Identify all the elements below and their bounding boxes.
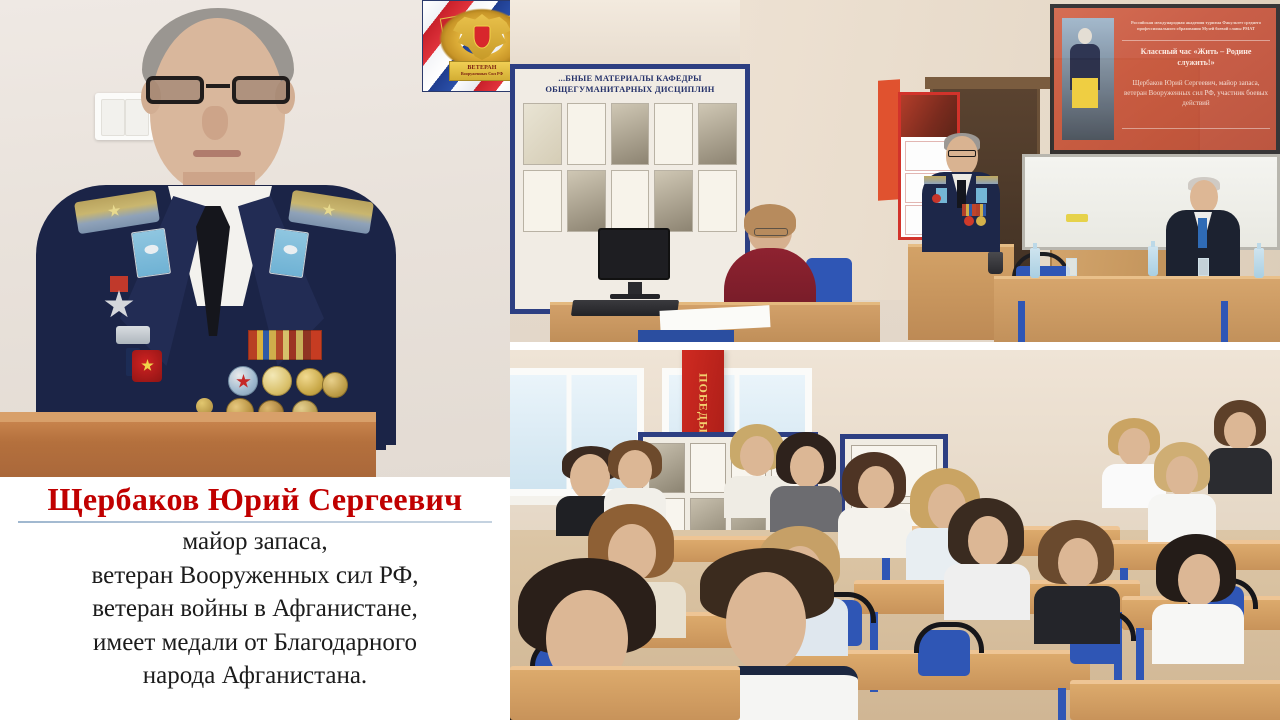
medal-ribbon-bar [248,330,322,360]
description-line: ветеран войны в Афганистане, [0,592,510,626]
student-head [1166,456,1198,496]
coffee-cup [988,252,1003,274]
board-item [523,170,562,232]
student-body [1034,586,1120,644]
student-body [770,486,842,532]
speaker-epaulet-left [924,176,946,184]
board-item [567,170,606,232]
eyeglasses-bridge [206,84,230,88]
board-item [567,103,606,165]
blue-folder [638,330,734,342]
student-body [1152,604,1244,664]
medal-3 [296,368,324,396]
epaulet-star-left [107,203,122,218]
student-head [726,572,806,672]
board-item [611,170,650,232]
slide-header-text: Российская международная академия туризм… [1122,20,1270,32]
medal-4 [322,372,348,398]
slide-divider-bottom [1122,128,1270,129]
slide-divider-top [1122,40,1270,41]
student [1044,526,1110,638]
board-item [654,103,693,165]
student-body [838,508,912,558]
speaker-ribbon-bar [962,204,986,216]
student [780,436,834,528]
order-ribbon [110,276,128,292]
emblem-banner: ВЕТЕРАН Вооруженных Сил РФ [449,61,515,81]
classroom-chair [918,630,970,676]
board-item [611,103,650,165]
water-bottle [1254,248,1264,278]
collar-patch-left [131,228,171,278]
student [1156,446,1206,538]
speaker-medal-2 [976,216,986,226]
aviation-badge [116,326,150,344]
victory-banner-text: ПОБЕДЫ [696,373,711,434]
drinking-glass [1198,258,1209,276]
eyeglasses-lens-right [232,76,290,104]
speaking-veteran [922,136,1000,251]
slide-photo-certificate [1072,78,1098,108]
portrait-nose [202,106,228,140]
guards-badge [132,350,162,382]
speaker-collar-patch-right [976,188,987,203]
description-line: народа Афганистана. [0,659,510,693]
board-item [654,170,693,232]
projection-screen: Российская международная академия туризм… [1050,4,1280,154]
desk-leg [1058,688,1066,720]
guest-tie [1198,218,1207,248]
table-leg [1221,301,1228,342]
presidium-table [994,276,1280,342]
monitor-stand [610,294,660,299]
student [846,456,904,554]
student-head [790,446,824,488]
guest-head [1190,180,1218,214]
wall-poster-strip [878,79,900,201]
description-line: имеет медали от Благодарного [0,626,510,660]
slide-subtitle-text: Щербаков Юрий Сергеевич, майор запаса, в… [1122,78,1270,108]
whiteboard [1022,154,1280,250]
student-head [1224,412,1256,450]
emblem-shield-icon [474,26,491,49]
board-title: ...БНЫЕ МАТЕРИАЛЫ КАФЕДРЫ ОБЩЕГУМАНИТАРН… [515,73,745,95]
epaulet-star-right [321,203,336,218]
eyeglasses-icon [144,76,292,106]
student-head [740,436,774,476]
student-head [618,450,652,490]
eyeglasses-lens-left [146,76,204,104]
student [954,504,1020,614]
student-head [570,454,610,500]
student-head [1178,554,1220,606]
veteran-description: майор запаса, ветеран Вооруженных сил РФ… [0,525,510,693]
description-line: майор запаса, [0,525,510,559]
student-body [944,564,1030,620]
student-head [968,516,1008,566]
student-desk-front [510,666,740,720]
slide-title-text: Классный час «Жить – Родине служить!» [1122,46,1270,68]
medal-2 [262,366,292,396]
collar-patch-right [269,228,309,278]
classroom-audience-photo: ПОБЕДЫ [510,350,1280,720]
stand-item [690,443,726,493]
student-head [1058,538,1098,588]
whiteboard-marker [1066,214,1088,222]
caption-block: Щербаков Юрий Сергеевич майор запаса, ве… [0,477,510,720]
speaker-medal-1 [964,216,974,226]
board-item [698,103,737,165]
emblem-banner-line2: Вооруженных Сил РФ [461,72,503,76]
speaker-epaulet-right [976,176,998,184]
description-line: ветеран Вооруженных сил РФ, [0,559,510,593]
student-desk [1070,680,1280,720]
portrait-mouth [193,150,241,157]
student [1110,422,1158,506]
table-leg [1018,301,1025,342]
student [1216,404,1264,490]
lecture-hall-photo: ...БНЫЕ МАТЕРИАЛЫ КАФЕДРЫ ОБЩЕГУМАНИТАРН… [510,0,1280,342]
caption-divider [18,521,492,523]
drinking-glass [1066,258,1077,276]
student-head [1118,428,1150,466]
teacher-glasses-icon [754,228,788,236]
board-title-line2: ОБЩЕГУМАНИТАРНЫХ ДИСЦИПЛИН [515,84,745,95]
calendar-header-image [901,95,957,137]
student [1162,540,1232,660]
medal-1 [228,366,258,396]
wooden-podium [0,418,376,477]
student-body [1208,448,1272,494]
student-head [858,466,894,510]
board-title-line1: ...БНЫЕ МАТЕРИАЛЫ КАФЕДРЫ [515,73,745,84]
slide-photo [1062,18,1114,140]
speaker-glasses-icon [948,150,976,157]
speaker-badge [932,194,941,203]
water-bottle [1148,246,1158,276]
slide-photo-head [1078,28,1092,44]
presentation-slide: ВЕТЕРАН Вооруженных Сил РФ ...БНЫЕ МАТЕР… [0,0,1280,720]
board-item [523,103,562,165]
computer-monitor [598,228,670,280]
veteran-name: Щербаков Юрий Сергеевич [0,480,510,518]
water-bottle [1030,248,1040,278]
